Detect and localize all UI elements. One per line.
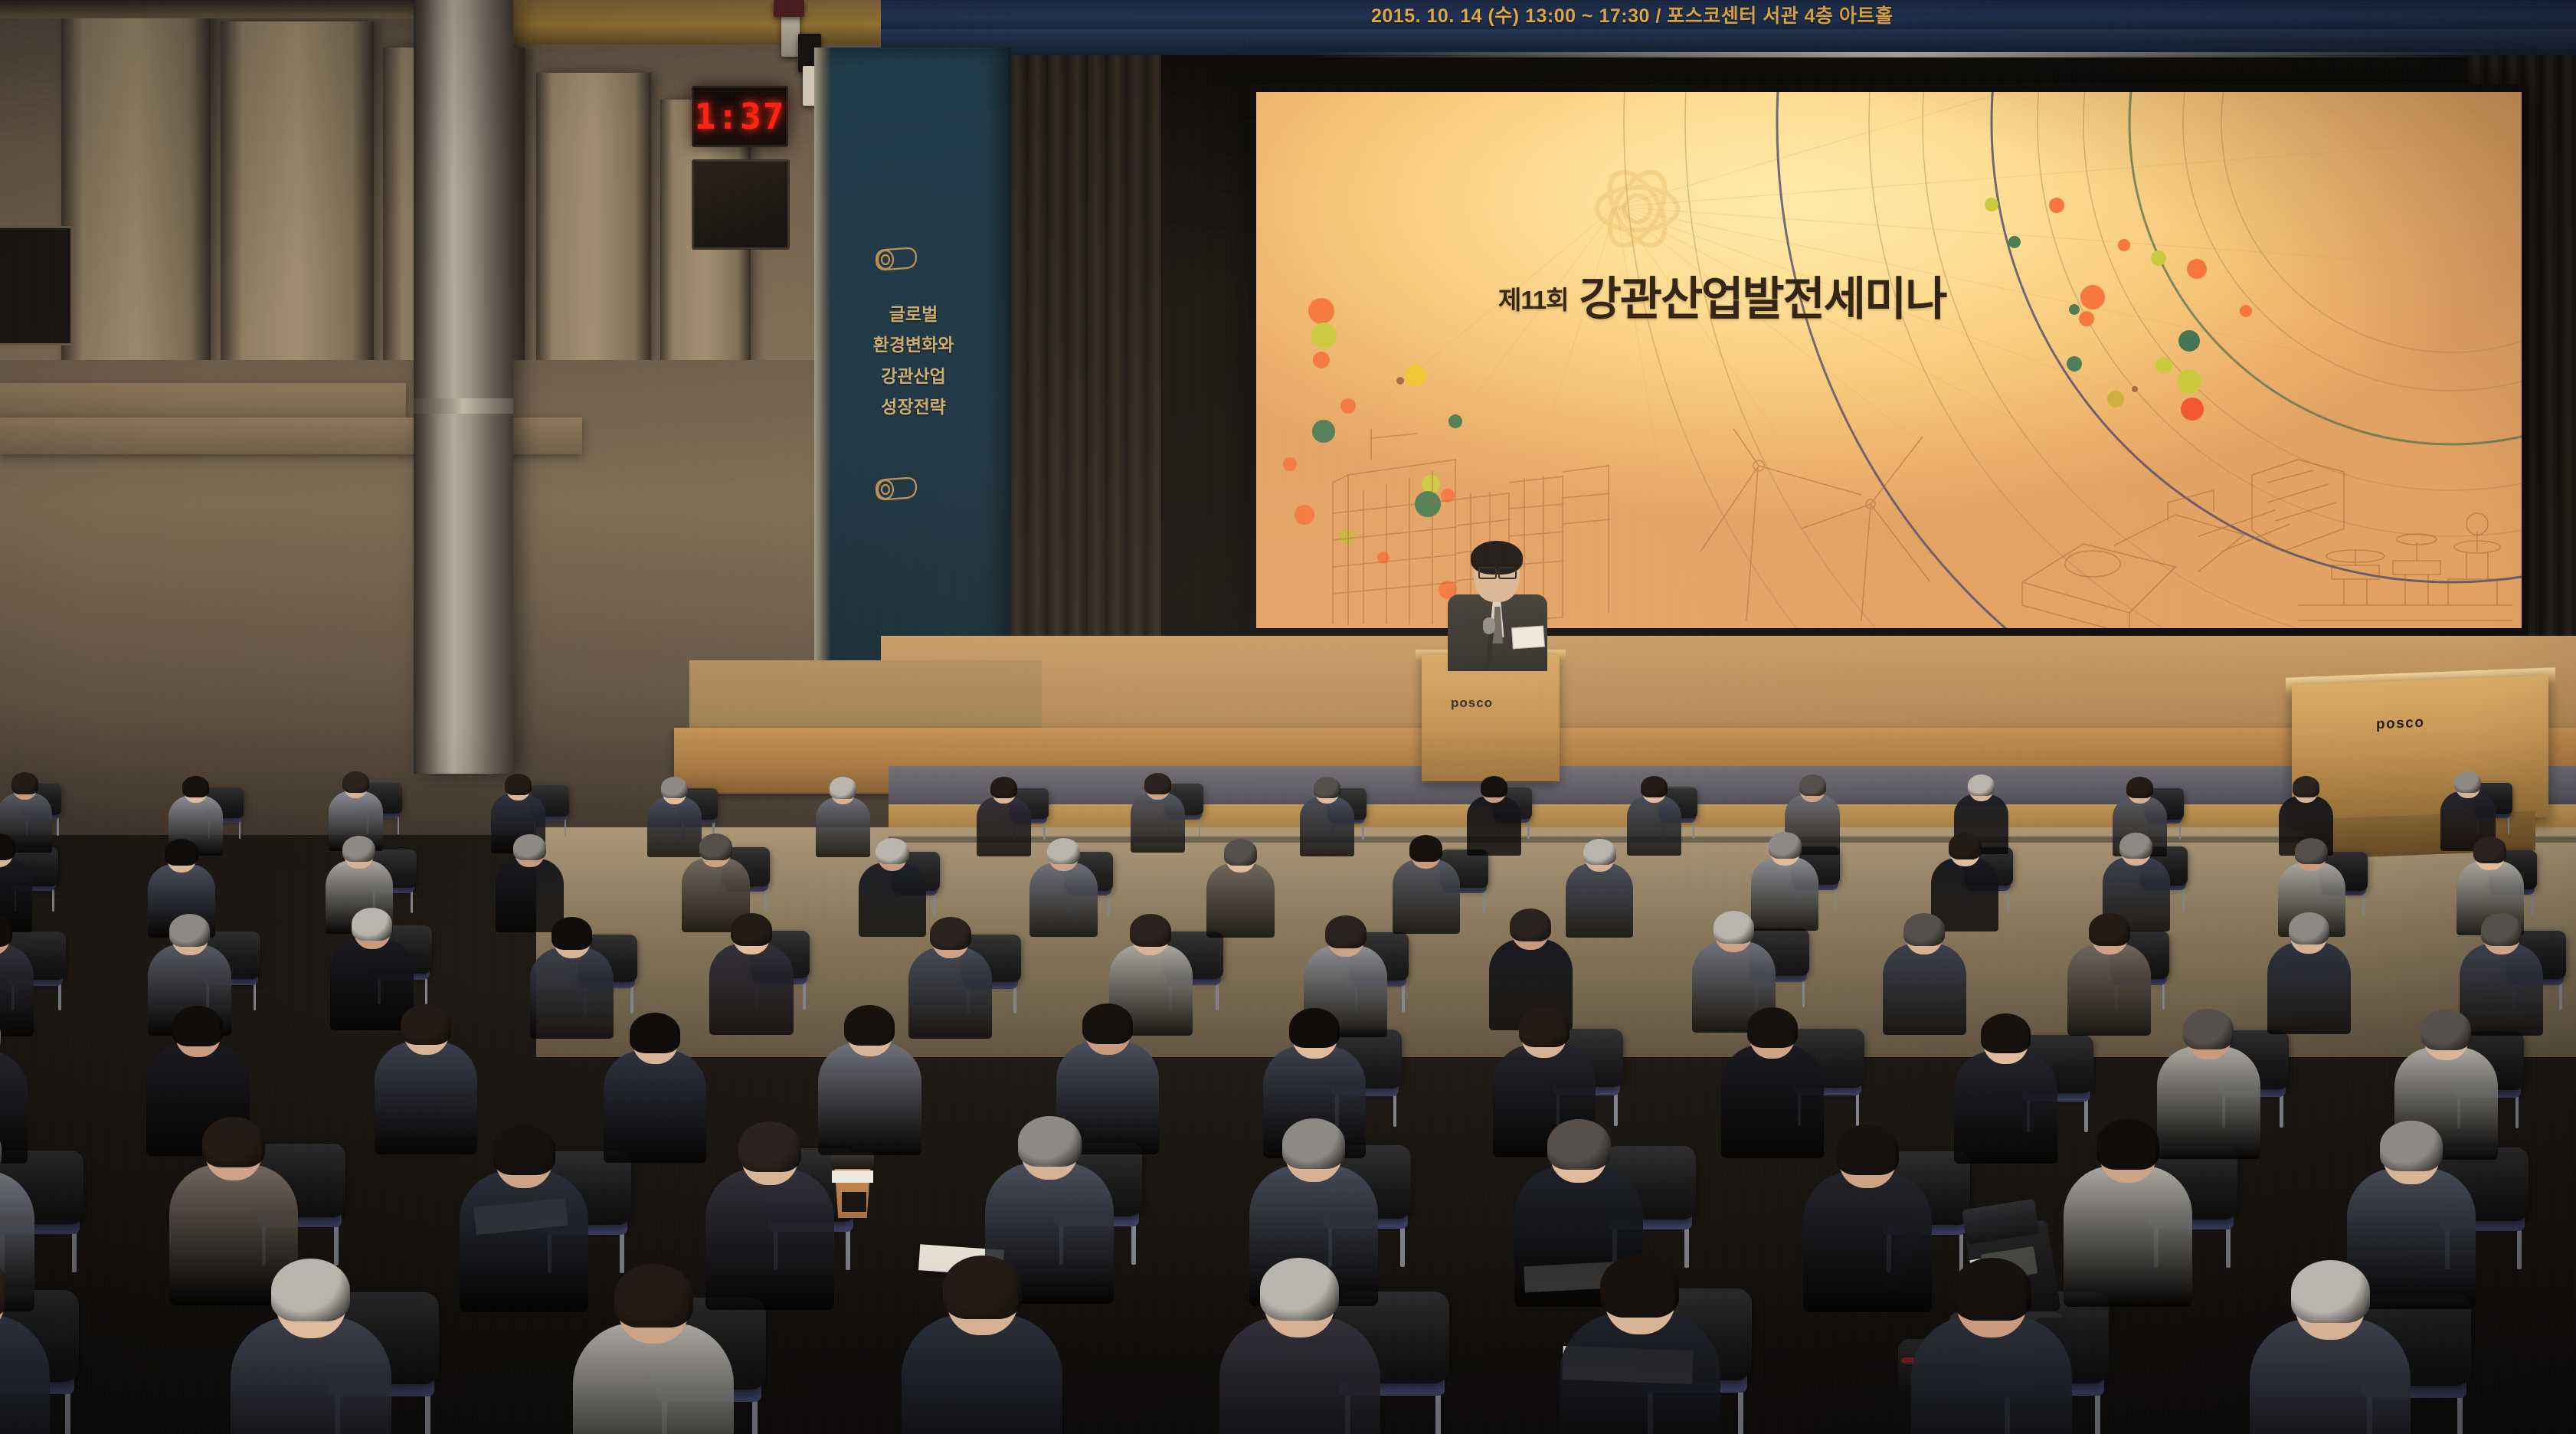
- audience-hair: [1641, 776, 1668, 797]
- audience-hair: [2293, 776, 2319, 797]
- microphone-icon: [1483, 617, 1495, 634]
- audience-hair: [2481, 913, 2522, 946]
- banner-line-2: 환경변화와: [831, 329, 996, 360]
- audience-member: [1467, 775, 1521, 853]
- audience-hair: [172, 1006, 223, 1046]
- audience-hair: [1282, 1118, 1345, 1169]
- glasses-icon: [1498, 567, 1517, 579]
- audience-torso: [2067, 944, 2151, 1036]
- audience-hair: [271, 1259, 350, 1322]
- audience-hair: [401, 1004, 451, 1045]
- audience-torso: [2267, 942, 2351, 1034]
- audience-hair: [830, 777, 856, 798]
- audience-member: [1393, 834, 1460, 931]
- audience-hair: [0, 833, 15, 860]
- audience-torso: [1300, 797, 1354, 856]
- audience-hair: [943, 1256, 1022, 1319]
- audience-hair: [1836, 1125, 1899, 1175]
- banner-line-1: 글로벌: [831, 299, 996, 329]
- led-secondary-panel: [692, 159, 790, 250]
- audience-hair: [1047, 838, 1080, 865]
- audience-torso: [0, 1314, 50, 1434]
- audience-hair: [1968, 774, 1995, 796]
- atom-orbital-icon: [1578, 149, 1697, 268]
- audience-hair: [2291, 1260, 2370, 1324]
- audience-hair: [1949, 833, 1982, 859]
- ceiling-speaker-bracket: [774, 0, 804, 17]
- audience-hair: [0, 1256, 8, 1320]
- audience-hair: [2089, 913, 2130, 946]
- audience-hair: [1547, 1119, 1610, 1170]
- audience-hair: [1583, 839, 1616, 866]
- audience-member: [1911, 1256, 2072, 1434]
- banner-line-3: 강관산업: [831, 361, 996, 391]
- audience-hair: [182, 776, 209, 797]
- audience-member: [1566, 838, 1633, 935]
- audience-hair: [1981, 1013, 2031, 1054]
- steel-pipe-icon: [873, 475, 919, 503]
- vertical-banner-text-block: 글로벌 환경변화와 강관산업 성장전략: [831, 299, 996, 422]
- ceiling-speaker-pole: [803, 66, 815, 106]
- audience-hair: [505, 774, 532, 795]
- audience-member: [902, 1254, 1062, 1434]
- audience-member: [1627, 775, 1681, 853]
- audience-hair: [2126, 777, 2153, 798]
- screen-title-prefix: 제11회: [1498, 286, 1569, 314]
- audience-member: [0, 1255, 50, 1434]
- audience-hair: [2473, 837, 2506, 863]
- audience-member: [1300, 776, 1354, 854]
- audience-torso: [1206, 863, 1274, 938]
- led-clock-value: 1:37: [695, 96, 786, 137]
- led-clock-display: 1:37: [692, 86, 788, 147]
- audience-torso: [1029, 863, 1097, 937]
- cup-label: [842, 1192, 866, 1212]
- proscenium-top-bar: [881, 29, 2576, 55]
- audience-hair: [1769, 832, 1802, 859]
- audience-member: [908, 916, 992, 1036]
- audience-hair: [552, 917, 593, 950]
- audience-hair: [1082, 1003, 1133, 1044]
- audience-hair: [1224, 839, 1257, 866]
- audience-hair: [493, 1125, 555, 1175]
- audience-member: [709, 912, 793, 1032]
- audience-torso: [604, 1050, 706, 1163]
- audience-torso: [977, 797, 1031, 856]
- audience-torso: [1131, 793, 1185, 853]
- screen-title: 제11회강관산업발전세미나: [1498, 262, 1946, 329]
- audience-hair: [1130, 914, 1171, 947]
- audience-hair: [731, 913, 772, 946]
- audience-hair: [352, 908, 393, 941]
- audience-hair: [2289, 912, 2330, 945]
- audience-hair: [1519, 1007, 1569, 1047]
- audience-hair: [876, 838, 908, 865]
- audience-torso: [1467, 796, 1521, 856]
- audience-hair: [2119, 833, 2152, 859]
- audience-hair: [11, 772, 38, 794]
- audience-member: [231, 1257, 391, 1434]
- audience-hair: [930, 917, 971, 950]
- audience-hair: [1325, 915, 1367, 948]
- audience-hair: [738, 1121, 801, 1172]
- audience-hair: [342, 836, 375, 863]
- audience-hair: [0, 914, 12, 947]
- audience-member: [2250, 1259, 2411, 1434]
- proscenium-edge-highlight: [1302, 52, 2497, 57]
- audience-member: [604, 1012, 706, 1159]
- audience-torso: [460, 1171, 588, 1312]
- acoustic-fin: [221, 21, 374, 414]
- speaker-at-podium: [1440, 541, 1555, 667]
- audience-hair: [1018, 1116, 1081, 1167]
- audience-hair: [1481, 776, 1507, 797]
- audience-hair: [0, 1124, 2, 1174]
- audience-hair: [1260, 1258, 1339, 1321]
- audience-hair: [1600, 1255, 1679, 1318]
- audience-member: [977, 776, 1031, 854]
- audience-hair: [202, 1117, 265, 1167]
- column-band: [414, 398, 513, 414]
- audience-hair: [2183, 1009, 2234, 1049]
- audience-hair: [2096, 1119, 2159, 1170]
- audience-hair: [699, 833, 732, 860]
- audience-torso: [1566, 863, 1633, 938]
- speaker-name-badge: [1511, 626, 1545, 650]
- audience-hair: [1747, 1007, 1798, 1048]
- audience-hair: [2454, 771, 2481, 793]
- audience-hair: [630, 1013, 680, 1053]
- audience-torso: [709, 944, 793, 1036]
- screen-title-main: 강관산업발전세미나: [1579, 273, 1946, 325]
- audience-hair: [990, 777, 1017, 798]
- audience-torso: [2064, 1166, 2192, 1307]
- audience-member: [1029, 837, 1097, 934]
- photograph-canvas: 1:37 2015. 10. 14 (수) 13:00 ~ 17:30 / 포스…: [0, 0, 2576, 1434]
- audience-hair: [1314, 777, 1340, 798]
- coffee-cup: [831, 1148, 874, 1218]
- stage-curtain-left: [1008, 55, 1161, 668]
- audience-hair: [844, 1005, 895, 1046]
- audience-hair: [1799, 774, 1826, 796]
- audience-member: [1219, 1256, 1380, 1434]
- steel-pipe-icon: [873, 245, 919, 273]
- audience-hair: [0, 1013, 1, 1054]
- audience-torso: [1954, 1051, 2057, 1164]
- audience-torso: [1627, 796, 1681, 856]
- audience-hair: [1714, 911, 1755, 944]
- audience-hair: [1144, 773, 1171, 794]
- audience-hair: [1409, 835, 1442, 862]
- audience-member: [2067, 912, 2151, 1032]
- banner-edge-highlight: [814, 47, 831, 691]
- audience-hair: [2421, 1010, 2472, 1050]
- audience-hair: [1289, 1008, 1340, 1049]
- audience-hair: [513, 834, 546, 861]
- wall-vent: [0, 226, 73, 345]
- audience-member: [2267, 912, 2351, 1031]
- audience-member: [1883, 912, 1966, 1032]
- banner-line-4: 성장전략: [831, 391, 996, 422]
- audience-hair: [1510, 909, 1551, 941]
- cup-sleeve: [832, 1170, 873, 1183]
- audience-member: [530, 916, 614, 1036]
- glasses-icon: [1478, 567, 1497, 579]
- audience-torso: [530, 948, 614, 1039]
- overhead-banner-text: 2015. 10. 14 (수) 13:00 ~ 17:30 / 포스코센터 서…: [1371, 1, 1894, 28]
- audience-member: [1560, 1253, 1720, 1434]
- audience-member: [1206, 838, 1274, 935]
- audience-hair: [1952, 1258, 2031, 1321]
- audience-torso: [908, 948, 992, 1039]
- audience-hair: [2295, 838, 2328, 865]
- concrete-column: [414, 0, 513, 774]
- audience-member: [1954, 1012, 2057, 1159]
- audience-hair: [1903, 913, 1945, 946]
- audience-hair: [614, 1264, 693, 1328]
- audience-member: [460, 1123, 588, 1307]
- audience-torso: [1883, 944, 1966, 1036]
- audience-member: [1131, 772, 1185, 850]
- audience-hair: [2380, 1121, 2443, 1171]
- audience-area: [0, 728, 2576, 1434]
- podium-logo: posco: [1451, 696, 1493, 711]
- audience-hair: [342, 771, 369, 793]
- audience-hair: [165, 839, 198, 866]
- acoustic-fin: [61, 0, 211, 383]
- audience-member: [2064, 1118, 2192, 1301]
- audience-torso: [1393, 859, 1460, 934]
- audience-hair: [661, 777, 688, 798]
- audience-hair: [169, 914, 211, 947]
- audience-member: [573, 1262, 734, 1434]
- overhead-event-banner: 2015. 10. 14 (수) 13:00 ~ 17:30 / 포스코센터 서…: [881, 0, 2576, 29]
